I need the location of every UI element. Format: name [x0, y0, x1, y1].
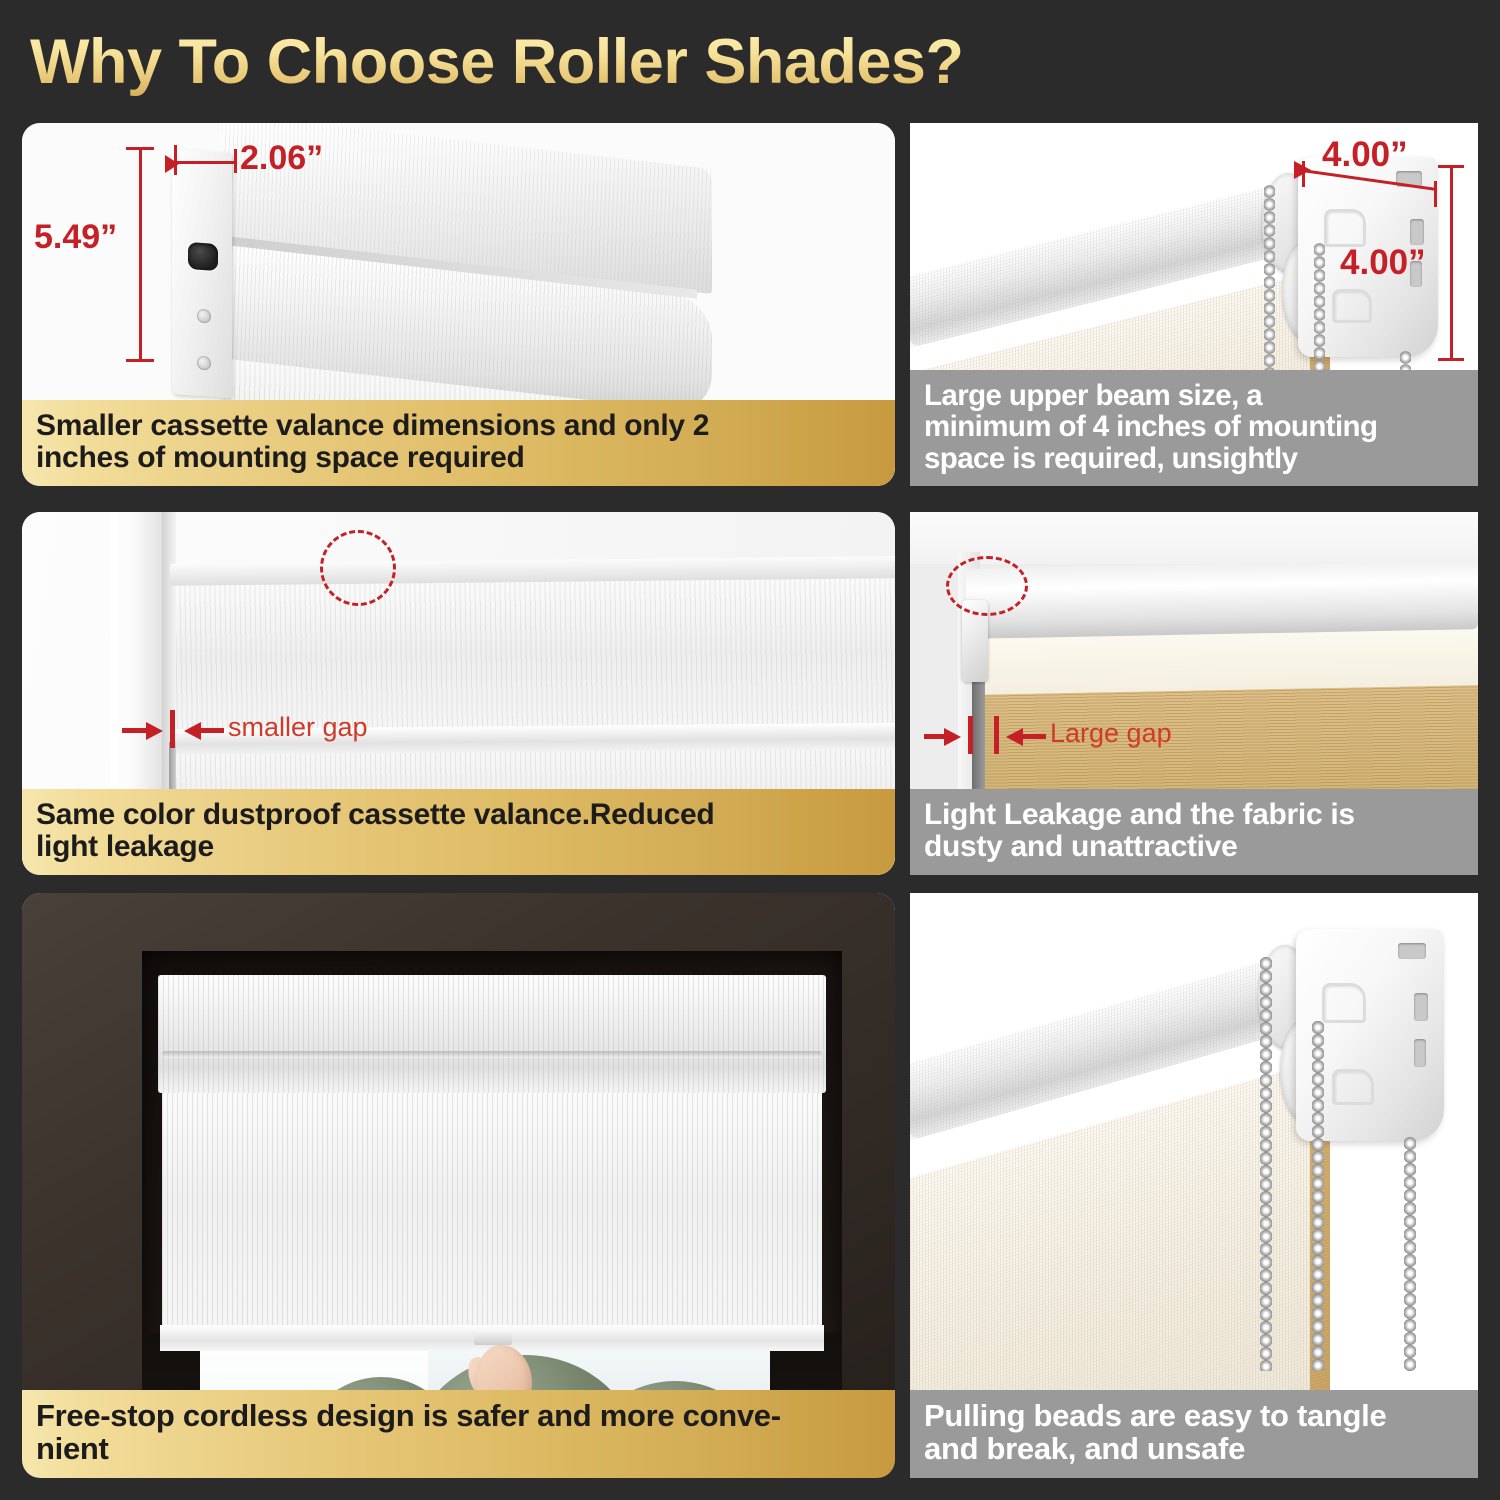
height-dimension-label: 5.49”	[34, 218, 117, 257]
panel-pulling-beads: Pulling beads are easy to tangle and bre…	[910, 893, 1478, 1478]
panel-large-upper-beam: 4.00” 4.00” Large upper beam size, a min…	[910, 123, 1478, 486]
panel-caption: Large upper beam size, a minimum of 4 in…	[910, 370, 1478, 486]
beam-width-label: 4.00”	[1322, 135, 1408, 175]
panel-light-leakage: Large gap Light Leakage and the fabric i…	[910, 512, 1478, 875]
bead-chain	[1260, 957, 1272, 1371]
cassette-valance	[158, 975, 826, 1093]
cassette-endcap	[172, 149, 232, 398]
panel-caption: Light Leakage and the fabric is dusty an…	[910, 789, 1478, 875]
beam-height-label: 4.00”	[1340, 243, 1426, 283]
highlight-circle-icon	[946, 556, 1028, 616]
panel-cordless-design: Free-stop cordless design is safer and m…	[22, 893, 895, 1478]
panel-caption: Smaller cassette valance dimensions and …	[22, 400, 895, 486]
bead-chain	[1312, 1021, 1324, 1371]
highlight-circle-icon	[320, 530, 396, 606]
panel-caption: Pulling beads are easy to tangle and bre…	[910, 1390, 1478, 1478]
panel-cassette-dimensions: 2.06” 5.49” Smaller cassette valance dim…	[22, 123, 895, 486]
comparison-grid: 2.06” 5.49” Smaller cassette valance dim…	[0, 0, 1500, 1500]
bead-chain	[1404, 1137, 1416, 1371]
gap-callout-label: smaller gap	[228, 712, 368, 743]
panel-caption: Free-stop cordless design is safer and m…	[22, 1390, 895, 1478]
panel-caption: Same color dustproof cassette valance.Re…	[22, 789, 895, 875]
gap-callout-label: Large gap	[1050, 718, 1172, 749]
panel-dustproof-valance: smaller gap Same color dustproof cassett…	[22, 512, 895, 875]
width-dimension-label: 2.06”	[240, 139, 323, 178]
